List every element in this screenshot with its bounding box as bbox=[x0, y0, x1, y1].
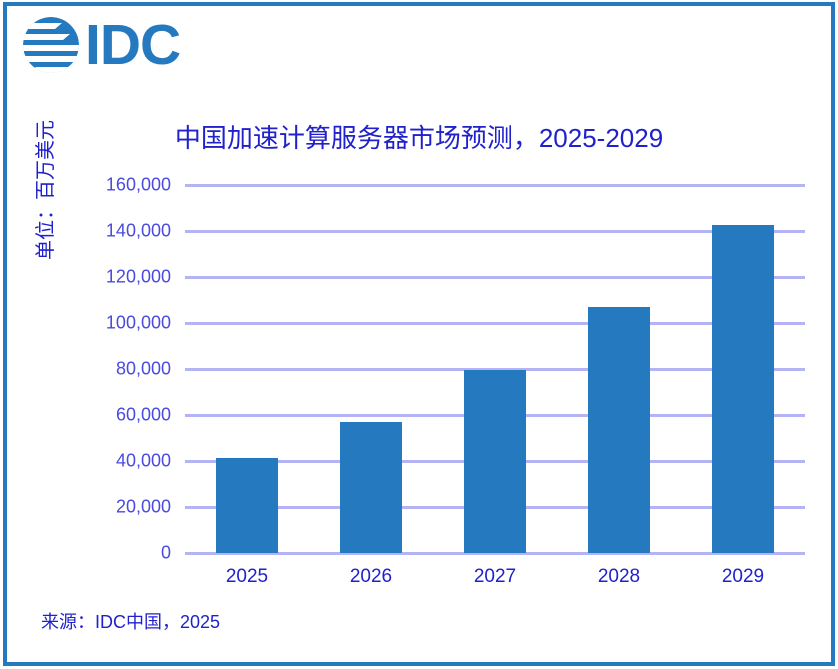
chart-page: IDC 中国加速计算服务器市场预测，2025-2029 单位：百万美元 020,… bbox=[0, 0, 838, 669]
idc-logo-text: IDC bbox=[85, 16, 180, 74]
y-axis-tick-label: 0 bbox=[161, 543, 171, 564]
y-axis-tick-label: 20,000 bbox=[116, 497, 171, 518]
chart-title: 中国加速计算服务器市场预测，2025-2029 bbox=[0, 118, 838, 155]
y-axis-tick-label: 60,000 bbox=[116, 405, 171, 426]
y-axis-tick-label: 80,000 bbox=[116, 359, 171, 380]
y-axis-tick-label: 140,000 bbox=[106, 221, 171, 242]
y-axis-tick-label: 120,000 bbox=[106, 267, 171, 288]
y-axis-tick-label: 100,000 bbox=[106, 313, 171, 334]
x-axis-tick-label: 2029 bbox=[688, 566, 798, 588]
bar-2027 bbox=[464, 370, 526, 553]
y-axis-title: 单位：百万美元 bbox=[31, 85, 61, 295]
x-axis-tick-label: 2026 bbox=[316, 566, 426, 588]
x-axis-tick-label: 2025 bbox=[192, 566, 302, 588]
gridline bbox=[185, 184, 805, 187]
x-axis-tick-label: 2027 bbox=[440, 566, 550, 588]
bar-2026 bbox=[340, 422, 402, 553]
idc-logo: IDC bbox=[22, 14, 242, 76]
plot-area: 020,00040,00060,00080,000100,000120,0001… bbox=[185, 185, 805, 553]
bar-2029 bbox=[712, 225, 774, 553]
bar-2025 bbox=[216, 458, 278, 553]
source-note: 来源：IDC中国，2025 bbox=[41, 608, 220, 634]
bar-2028 bbox=[588, 307, 650, 553]
idc-globe-icon bbox=[22, 16, 80, 74]
y-axis-tick-label: 160,000 bbox=[106, 175, 171, 196]
y-axis-tick-label: 40,000 bbox=[116, 451, 171, 472]
x-axis-tick-label: 2028 bbox=[564, 566, 674, 588]
